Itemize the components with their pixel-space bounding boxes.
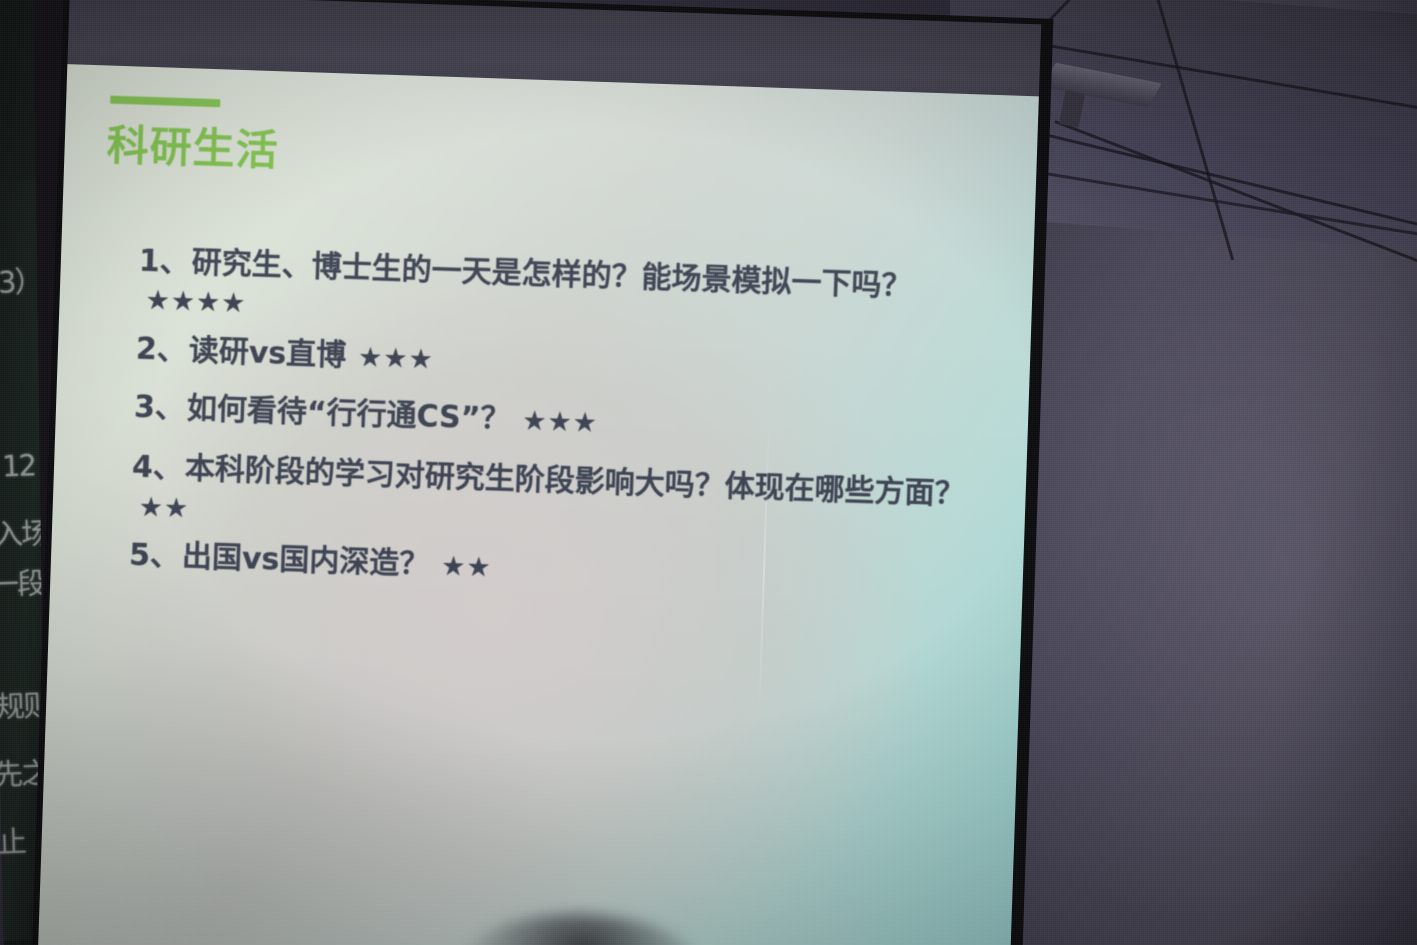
bullet-number: 3、 — [134, 391, 186, 424]
bullet-item-3: 3、如何看待“行行通CS”？★★★ — [134, 391, 1015, 452]
audience-head-shadow — [456, 910, 710, 945]
rating-stars: ★★ — [441, 553, 492, 583]
bullet-text: 本科阶段的学习对研究生阶段影响大吗？体现在哪些方面？ — [184, 452, 965, 513]
bullet-number: 1、 — [138, 244, 190, 281]
bullet-item-4: 4、本科阶段的学习对研究生阶段影响大吗？体现在哪些方面？★★ — [130, 449, 1012, 555]
rating-stars: ★★★ — [522, 407, 599, 438]
rating-stars: ★★★★ — [145, 285, 247, 319]
bullet-number: 2、 — [135, 333, 187, 366]
chalk-text: 3） — [0, 267, 42, 297]
rating-stars: ★★★ — [358, 344, 435, 375]
bullet-item-1: 1、研究生、博士生的一天是怎样的？能场景模拟一下吗？★★★★ — [137, 243, 1019, 349]
classroom-scene: 3） 12 入场 一段 规则 先之 止 科研生活 1、研究生、博士生的一天是怎样… — [0, 0, 1417, 945]
bullet-text: 出国vs国内深造？ — [181, 541, 429, 581]
bullet-list: 1、研究生、博士生的一天是怎样的？能场景模拟一下吗？★★★★ 2、读研vs直博★… — [128, 243, 1019, 627]
bullet-number: 4、 — [131, 450, 183, 487]
slide-title: 科研生活 — [106, 112, 280, 179]
rating-stars: ★★ — [138, 492, 189, 525]
bullet-text: 读研vs直博 — [188, 335, 346, 372]
bullet-text: 研究生、博士生的一天是怎样的？能场景模拟一下吗？ — [191, 245, 912, 304]
presentation-slide: 科研生活 1、研究生、博士生的一天是怎样的？能场景模拟一下吗？★★★★ 2、读研… — [38, 64, 1039, 945]
chalk-text: 一段 — [0, 569, 45, 600]
chalk-text: 止 — [0, 828, 26, 858]
title-accent-bar — [110, 96, 220, 108]
chalk-text: 12 — [2, 451, 36, 481]
projector-screen: 科研生活 1、研究生、博士生的一天是怎样的？能场景模拟一下吗？★★★★ 2、读研… — [31, 0, 1053, 945]
bullet-number: 5、 — [129, 540, 181, 573]
bullet-text: 如何看待“行行通CS”？ — [186, 393, 511, 436]
